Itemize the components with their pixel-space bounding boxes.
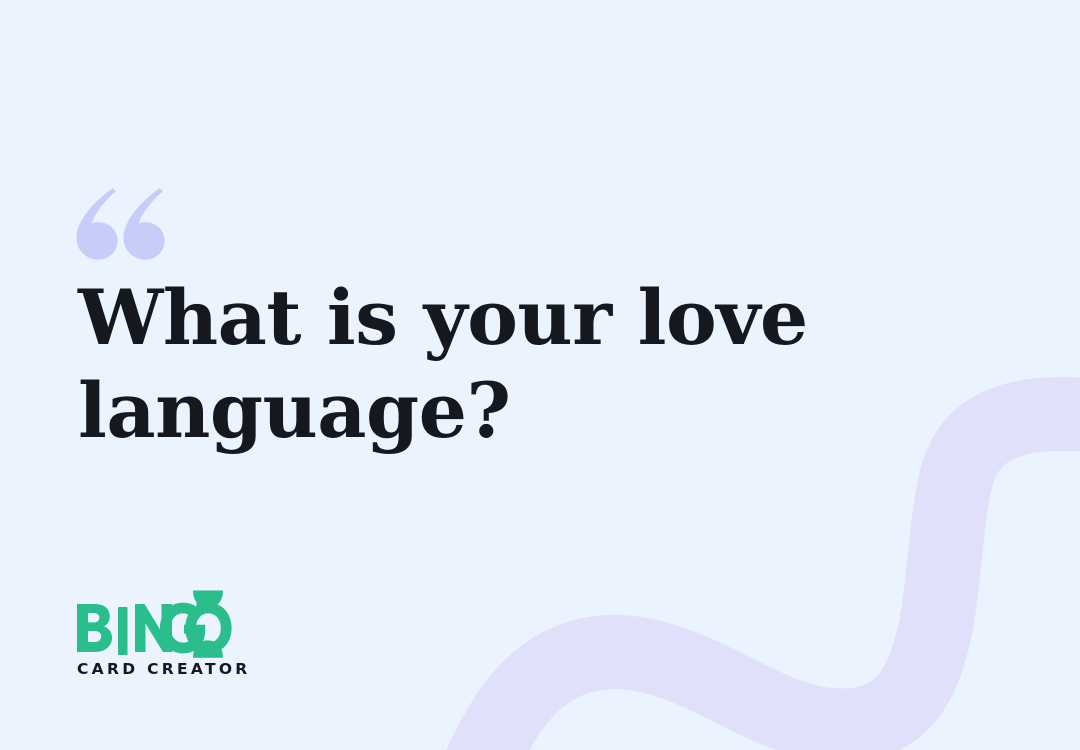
quote-card: What is your love language?	[0, 0, 1080, 750]
wave-path	[470, 414, 1080, 750]
logo-tagline: CARD CREATOR	[77, 660, 251, 678]
logo-letter-b	[77, 604, 112, 652]
quote-glyph-left	[76, 188, 117, 259]
logo-letter-i	[118, 607, 128, 655]
quote-glyph-right	[123, 188, 164, 259]
bingo-wordmark	[74, 590, 232, 658]
quote-heading: What is your love language?	[78, 272, 838, 457]
quote-open-icon	[74, 186, 170, 262]
logo-lockup: CARD CREATOR	[74, 590, 251, 678]
